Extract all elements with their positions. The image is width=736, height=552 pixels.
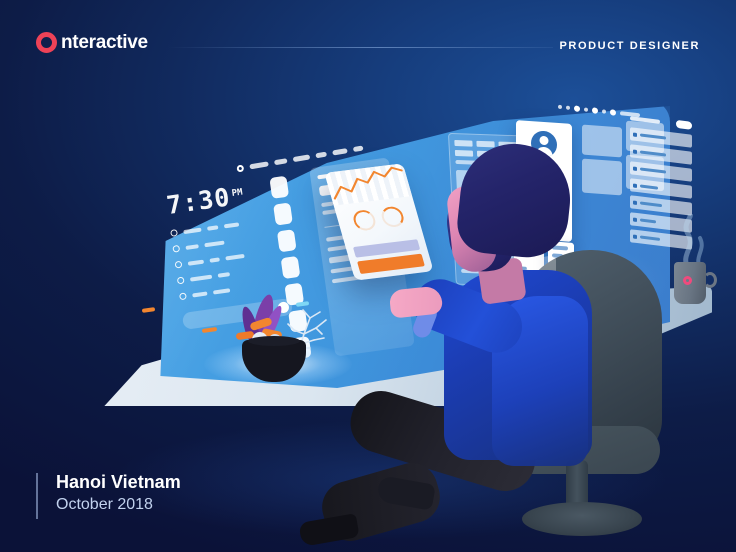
nav-tab-5[interactable] — [332, 148, 348, 155]
nav-tab-6[interactable] — [353, 145, 364, 152]
seated-designer — [396, 120, 656, 540]
todo-text — [209, 257, 219, 262]
nav-logo-icon — [236, 164, 244, 172]
strip-tile[interactable] — [269, 176, 289, 199]
illustration-canvas: 7:30PM — [0, 0, 736, 552]
todo-text — [185, 244, 198, 250]
dot[interactable] — [558, 105, 562, 109]
person-hair — [454, 139, 575, 262]
footer: Hanoi Vietnam October 2018 — [36, 470, 181, 516]
mug-logo-icon — [683, 276, 692, 285]
nav-tab-4[interactable] — [315, 152, 327, 159]
strip-tile[interactable] — [281, 256, 301, 279]
coffee-mug[interactable] — [674, 258, 714, 304]
todo-text — [188, 259, 204, 265]
o-ring-icon — [36, 32, 57, 53]
strip-tile[interactable] — [273, 202, 293, 225]
nav-tab-3[interactable] — [293, 154, 311, 162]
header-divider — [168, 47, 553, 48]
list-action-button[interactable] — [676, 120, 692, 130]
checkbox-icon[interactable] — [170, 229, 178, 237]
nav-tab-2[interactable] — [274, 158, 288, 165]
todo-text — [218, 272, 230, 278]
dot[interactable] — [566, 106, 570, 110]
todo-text — [192, 291, 207, 297]
todo-text — [190, 274, 212, 281]
todo-text — [225, 253, 244, 260]
dot[interactable] — [574, 105, 580, 112]
brand-logo[interactable]: nteractive — [36, 32, 148, 53]
checkbox-icon[interactable] — [179, 292, 187, 300]
clock-time-value: 7:30 — [165, 182, 233, 220]
dot[interactable] — [610, 109, 616, 116]
todo-text — [224, 222, 239, 228]
potted-plant — [228, 288, 328, 383]
role-label: PRODUCT DESIGNER — [560, 40, 701, 52]
dot[interactable] — [602, 109, 606, 113]
donut-ring-icon — [351, 209, 378, 232]
dot[interactable] — [592, 107, 598, 114]
todo-text — [183, 227, 201, 233]
header: nteractive PRODUCT DESIGNER — [0, 0, 736, 86]
checkbox-icon[interactable] — [177, 277, 185, 285]
dot[interactable] — [584, 107, 588, 111]
nav-tab-1[interactable] — [249, 161, 269, 169]
todo-text — [204, 240, 224, 247]
card-text — [321, 201, 333, 207]
todo-text — [207, 225, 218, 230]
checkbox-icon[interactable] — [175, 261, 183, 269]
strip-tile[interactable] — [277, 229, 297, 252]
clock-time: 7:30PM — [165, 178, 277, 218]
footer-location: Hanoi Vietnam — [56, 470, 181, 494]
checkbox-icon[interactable] — [172, 245, 180, 253]
clock-meridiem: PM — [231, 187, 243, 198]
brand-name: nteractive — [61, 33, 148, 52]
accent-chip — [142, 307, 155, 313]
footer-date: October 2018 — [56, 494, 181, 516]
